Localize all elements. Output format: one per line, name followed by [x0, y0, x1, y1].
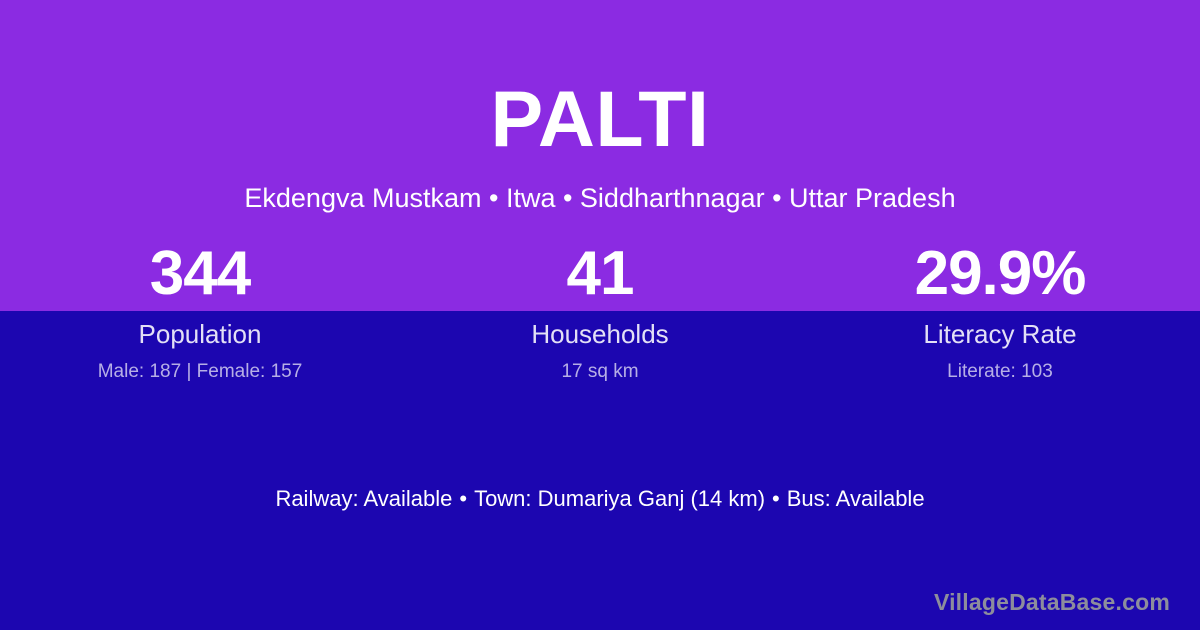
amenity-separator-icon: •: [765, 486, 787, 511]
card-content: PALTI Ekdengva Mustkam • Itwa • Siddhart…: [0, 0, 1200, 630]
page-title: PALTI: [0, 79, 1200, 158]
village-info-card: PALTI Ekdengva Mustkam • Itwa • Siddhart…: [0, 0, 1200, 630]
amenity-bus: Bus: Available: [787, 486, 925, 511]
stat-value: 344: [0, 243, 400, 305]
stat-label: Literacy Rate: [800, 320, 1200, 349]
stat-value: 41: [400, 243, 800, 305]
amenity-separator-icon: •: [452, 486, 474, 511]
stat-sublabel: 17 sq km: [400, 362, 800, 383]
stat-sublabel: Literate: 103: [800, 362, 1200, 383]
stat-households: 41 Households 17 sq km: [400, 243, 800, 382]
amenity-railway: Railway: Available: [275, 486, 452, 511]
stat-literacy-rate: 29.9% Literacy Rate Literate: 103: [800, 243, 1200, 382]
stat-sublabel: Male: 187 | Female: 157: [0, 362, 400, 383]
breadcrumb: Ekdengva Mustkam • Itwa • Siddharthnagar…: [0, 182, 1200, 216]
amenity-nearest-town: Town: Dumariya Ganj (14 km): [474, 486, 765, 511]
amenities-line: Railway: Available•Town: Dumariya Ganj (…: [0, 486, 1200, 512]
stat-label: Households: [400, 320, 800, 349]
stat-population: 344 Population Male: 187 | Female: 157: [0, 243, 400, 382]
stats-row: 344 Population Male: 187 | Female: 157 4…: [0, 243, 1200, 382]
stat-label: Population: [0, 320, 400, 349]
site-brand-watermark: VillageDataBase.com: [934, 589, 1170, 617]
stat-value: 29.9%: [800, 243, 1200, 305]
